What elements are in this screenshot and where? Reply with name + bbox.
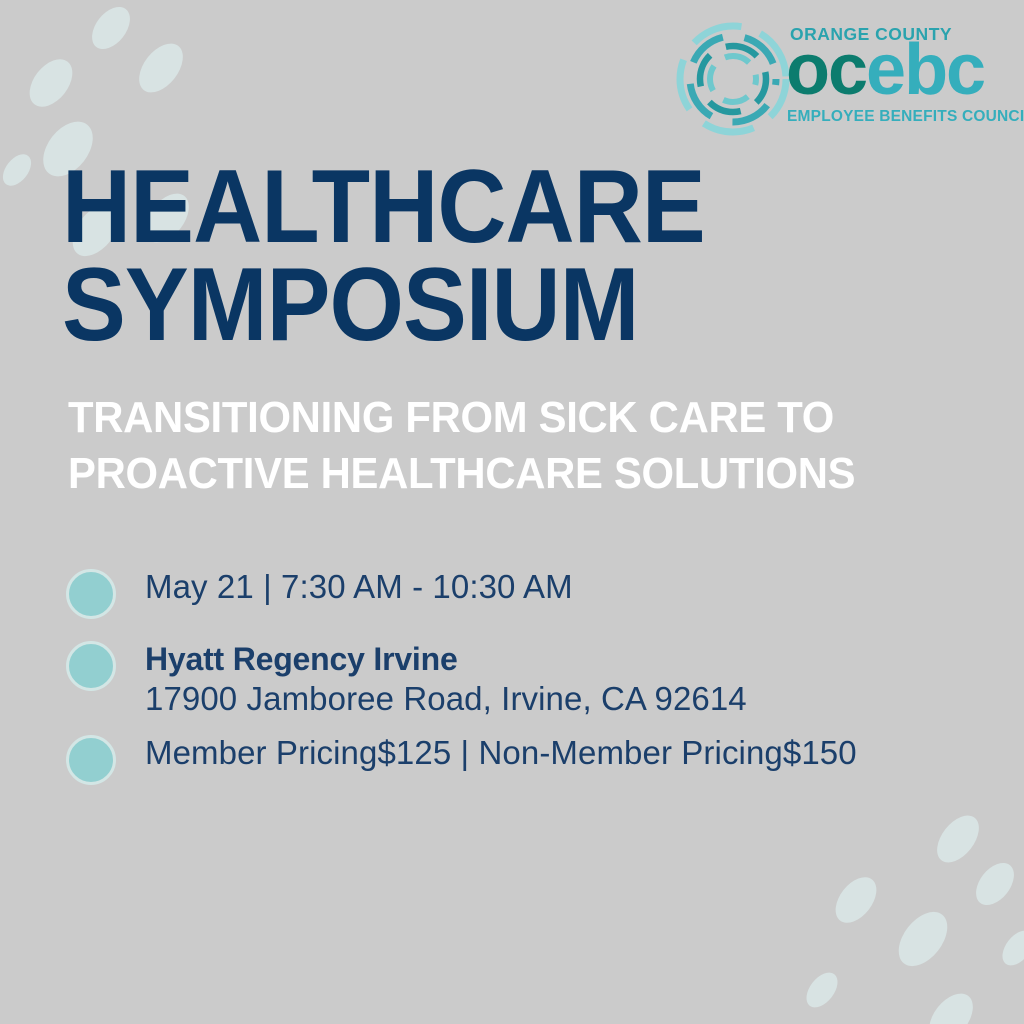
subtitle-line-1: TRANSITIONING FROM SICK CARE TO [68,390,942,446]
detail-text-date: May 21 | 7:30 AM - 10:30 AM [145,565,573,607]
decorative-ellipse [84,0,137,56]
event-details: May 21 | 7:30 AM - 10:30 AM Hyatt Regenc… [66,565,986,799]
decorative-ellipse [0,149,37,191]
decorative-ellipse [996,925,1024,971]
decorative-ellipse [920,985,981,1024]
detail-text-venue: Hyatt Regency Irvine 17900 Jamboree Road… [145,637,747,719]
decorative-ellipse [827,870,884,931]
page-title: HEALTHCARE SYMPOSIUM [62,158,962,354]
event-date-time: May 21 | 7:30 AM - 10:30 AM [145,567,573,607]
decorative-ellipse [968,856,1021,912]
detail-row-venue: Hyatt Regency Irvine 17900 Jamboree Road… [66,637,986,719]
decorative-ellipses-bottom-right [794,804,1024,1024]
bullet-dot-icon [66,569,116,619]
detail-row-date: May 21 | 7:30 AM - 10:30 AM [66,565,986,619]
venue-address: 17900 Jamboree Road, Irvine, CA 92614 [145,679,747,719]
logo-wordmark: ocebc [786,34,984,106]
venue-name: Hyatt Regency Irvine [145,639,747,679]
detail-text-pricing: Member Pricing$125 | Non-Member Pricing$… [145,731,857,773]
decorative-ellipse [130,35,191,100]
headline-line-1: HEALTHCARE [62,158,890,256]
page-subtitle: TRANSITIONING FROM SICK CARE TO PROACTIV… [68,390,988,502]
headline-line-2: SYMPOSIUM [62,256,890,354]
decorative-ellipse [21,51,81,114]
decorative-ellipse [929,808,987,870]
logo-tagline: EMPLOYEE BENEFITS COUNCIL [787,108,1024,126]
flyer-canvas: ORANGE COUNTY ocebc EMPLOYEE BENEFITS CO… [0,0,1024,1024]
logo-text-block: ORANGE COUNTY ocebc EMPLOYEE BENEFITS CO… [786,16,1004,138]
decorative-ellipse [889,903,957,975]
bullet-dot-icon [66,735,116,785]
ocebc-logo: ORANGE COUNTY ocebc EMPLOYEE BENEFITS CO… [674,16,1004,138]
subtitle-line-2: PROACTIVE HEALTHCARE SOLUTIONS [68,446,942,502]
decorative-ellipse [800,967,844,1013]
bullet-dot-icon [66,641,116,691]
pricing-text: Member Pricing$125 | Non-Member Pricing$… [145,733,857,773]
logo-wordmark-oc: oc [786,30,866,110]
logo-wordmark-ebc: ebc [866,30,984,110]
concentric-dashed-circles-icon [674,20,792,138]
detail-row-pricing: Member Pricing$125 | Non-Member Pricing$… [66,731,986,785]
